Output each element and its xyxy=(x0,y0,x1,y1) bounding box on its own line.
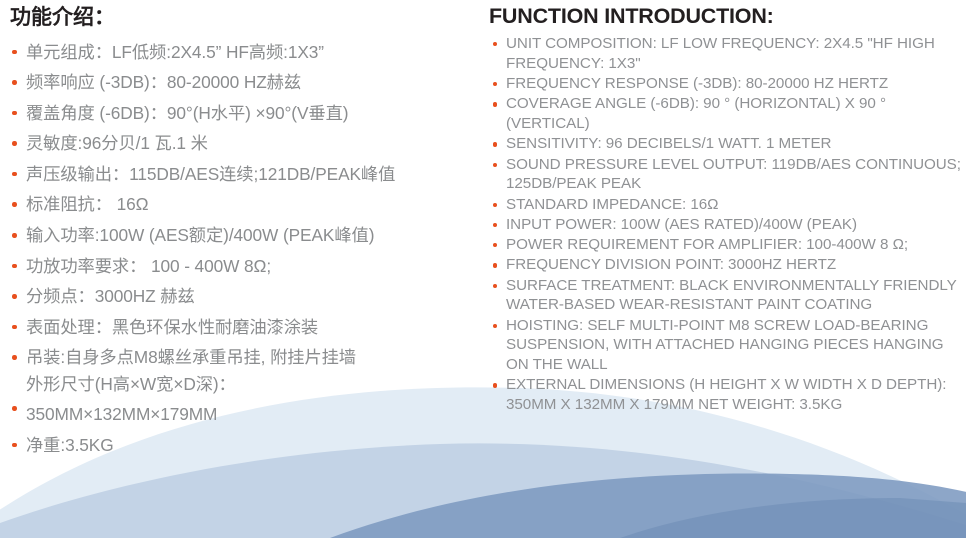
english-spec-item: HOISTING: SELF MULTI-POINT M8 SCREW LOAD… xyxy=(489,316,962,375)
chinese-spec-text: 声压级输出：115DB/AES连续;121DB/PEAK峰值 xyxy=(26,164,395,184)
bullet-icon xyxy=(493,42,497,46)
chinese-spec-item: 灵敏度:96分贝/1 瓦.1 米 xyxy=(10,130,479,156)
chinese-spec-item: 350MM×132MM×179MM xyxy=(10,401,479,427)
bullet-icon xyxy=(12,443,17,448)
english-heading: FUNCTION INTRODUCTION: xyxy=(489,4,962,28)
chinese-spec-text: 标准阻抗： 16Ω xyxy=(26,194,148,214)
english-spec-text: SENSITIVITY: 96 DECIBELS/1 WATT. 1 METER xyxy=(506,135,831,152)
bullet-icon xyxy=(493,284,497,288)
chinese-spec-text: 频率响应 (-3DB)：80-20000 HZ赫兹 xyxy=(26,72,301,92)
bullet-icon xyxy=(12,172,17,177)
chinese-spec-text: 分频点：3000HZ 赫兹 xyxy=(26,286,195,306)
english-spec-item: EXTERNAL DIMENSIONS (H HEIGHT X W WIDTH … xyxy=(489,375,962,415)
bullet-icon xyxy=(12,80,17,85)
english-spec-item: COVERAGE ANGLE (-6DB): 90 ° (HORIZONTAL)… xyxy=(489,94,962,134)
english-spec-item: FREQUENCY RESPONSE (-3DB): 80-20000 HZ H… xyxy=(489,74,962,94)
chinese-spec-column: 功能介绍： 单元组成：LF低频:2X4.5” HF高频:1X3”频率响应 (-3… xyxy=(0,0,485,462)
bullet-icon xyxy=(493,142,497,146)
chinese-spec-item: 吊装:自身多点M8螺丝承重吊挂, 附挂片挂墙外形尺寸(H高×W宽×D深)： xyxy=(10,344,479,396)
bullet-icon xyxy=(493,243,497,247)
english-spec-text: FREQUENCY RESPONSE (-3DB): 80-20000 HZ H… xyxy=(506,75,888,92)
bullet-icon xyxy=(12,202,17,207)
chinese-spec-item: 功放功率要求： 100 - 400W 8Ω; xyxy=(10,253,479,279)
chinese-spec-text: 覆盖角度 (-6DB)：90°(H水平) ×90°(V垂直) xyxy=(26,103,348,123)
chinese-spec-text: 吊装:自身多点M8螺丝承重吊挂, 附挂片挂墙 xyxy=(26,347,356,367)
english-spec-list: UNIT COMPOSITION: LF LOW FREQUENCY: 2X4.… xyxy=(489,34,962,415)
english-spec-item: SENSITIVITY: 96 DECIBELS/1 WATT. 1 METER xyxy=(489,134,962,154)
english-spec-text: STANDARD IMPEDANCE: 16Ω xyxy=(506,196,718,213)
english-spec-item: UNIT COMPOSITION: LF LOW FREQUENCY: 2X4.… xyxy=(489,34,962,74)
chinese-spec-text: 净重:3.5KG xyxy=(26,435,114,455)
chinese-heading: 功能介绍： xyxy=(10,6,479,30)
english-spec-item: POWER REQUIREMENT FOR AMPLIFIER: 100-400… xyxy=(489,235,962,255)
bullet-icon xyxy=(12,141,17,146)
bullet-icon xyxy=(12,406,17,411)
chinese-spec-item: 分频点：3000HZ 赫兹 xyxy=(10,283,479,309)
english-spec-text: EXTERNAL DIMENSIONS (H HEIGHT X W WIDTH … xyxy=(506,376,946,413)
bullet-icon xyxy=(493,163,497,167)
chinese-spec-item: 频率响应 (-3DB)：80-20000 HZ赫兹 xyxy=(10,69,479,95)
chinese-spec-text: 灵敏度:96分贝/1 瓦.1 米 xyxy=(26,133,208,153)
bullet-icon xyxy=(493,82,497,86)
bullet-icon xyxy=(12,294,17,299)
bullet-icon xyxy=(493,102,497,106)
chinese-spec-item: 输入功率:100W (AES额定)/400W (PEAK峰值) xyxy=(10,222,479,248)
bullet-icon xyxy=(12,111,17,116)
bullet-icon xyxy=(12,325,17,330)
english-spec-item: FREQUENCY DIVISION POINT: 3000HZ HERTZ xyxy=(489,255,962,275)
chinese-spec-text: 输入功率:100W (AES额定)/400W (PEAK峰值) xyxy=(26,225,374,245)
chinese-spec-item: 表面处理：黑色环保水性耐磨油漆涂装 xyxy=(10,314,479,340)
chinese-spec-list: 单元组成：LF低频:2X4.5” HF高频:1X3”频率响应 (-3DB)：80… xyxy=(10,39,479,459)
english-spec-column: FUNCTION INTRODUCTION: UNIT COMPOSITION:… xyxy=(485,0,966,416)
chinese-spec-item: 单元组成：LF低频:2X4.5” HF高频:1X3” xyxy=(10,39,479,65)
english-spec-text: POWER REQUIREMENT FOR AMPLIFIER: 100-400… xyxy=(506,236,908,253)
english-spec-text: UNIT COMPOSITION: LF LOW FREQUENCY: 2X4.… xyxy=(506,35,935,72)
bullet-icon xyxy=(493,223,497,227)
chinese-spec-item: 标准阻抗： 16Ω xyxy=(10,191,479,217)
english-spec-text: SURFACE TREATMENT: BLACK ENVIRONMENTALLY… xyxy=(506,277,956,314)
chinese-spec-text: 功放功率要求： 100 - 400W 8Ω; xyxy=(26,256,271,276)
bullet-icon xyxy=(12,233,17,238)
chinese-spec-text: 表面处理：黑色环保水性耐磨油漆涂装 xyxy=(26,317,318,337)
english-spec-item: INPUT POWER: 100W (AES RATED)/400W (PEAK… xyxy=(489,215,962,235)
english-spec-text: SOUND PRESSURE LEVEL OUTPUT: 119DB/AES C… xyxy=(506,156,961,193)
bullet-icon xyxy=(493,263,497,267)
bullet-icon xyxy=(12,50,17,55)
bullet-icon xyxy=(493,324,497,328)
chinese-spec-item: 声压级输出：115DB/AES连续;121DB/PEAK峰值 xyxy=(10,161,479,187)
english-spec-item: SOUND PRESSURE LEVEL OUTPUT: 119DB/AES C… xyxy=(489,155,962,195)
english-spec-item: SURFACE TREATMENT: BLACK ENVIRONMENTALLY… xyxy=(489,276,962,316)
bullet-icon xyxy=(12,355,17,360)
chinese-spec-item: 覆盖角度 (-6DB)：90°(H水平) ×90°(V垂直) xyxy=(10,100,479,126)
spec-sheet-body: 功能介绍： 单元组成：LF低频:2X4.5” HF高频:1X3”频率响应 (-3… xyxy=(0,0,966,538)
english-spec-text: COVERAGE ANGLE (-6DB): 90 ° (HORIZONTAL)… xyxy=(506,95,886,132)
english-spec-text: INPUT POWER: 100W (AES RATED)/400W (PEAK… xyxy=(506,216,857,233)
english-spec-text: HOISTING: SELF MULTI-POINT M8 SCREW LOAD… xyxy=(506,317,944,374)
english-spec-item: STANDARD IMPEDANCE: 16Ω xyxy=(489,195,962,215)
bullet-icon xyxy=(493,383,497,387)
english-spec-text: FREQUENCY DIVISION POINT: 3000HZ HERTZ xyxy=(506,256,836,273)
bullet-icon xyxy=(12,264,17,269)
bullet-icon xyxy=(493,203,497,207)
chinese-spec-text: 单元组成：LF低频:2X4.5” HF高频:1X3” xyxy=(26,42,324,62)
chinese-spec-item: 净重:3.5KG xyxy=(10,432,479,458)
chinese-spec-text: 350MM×132MM×179MM xyxy=(26,404,217,424)
chinese-spec-text-line2: 外形尺寸(H高×W宽×D深)： xyxy=(26,371,479,397)
